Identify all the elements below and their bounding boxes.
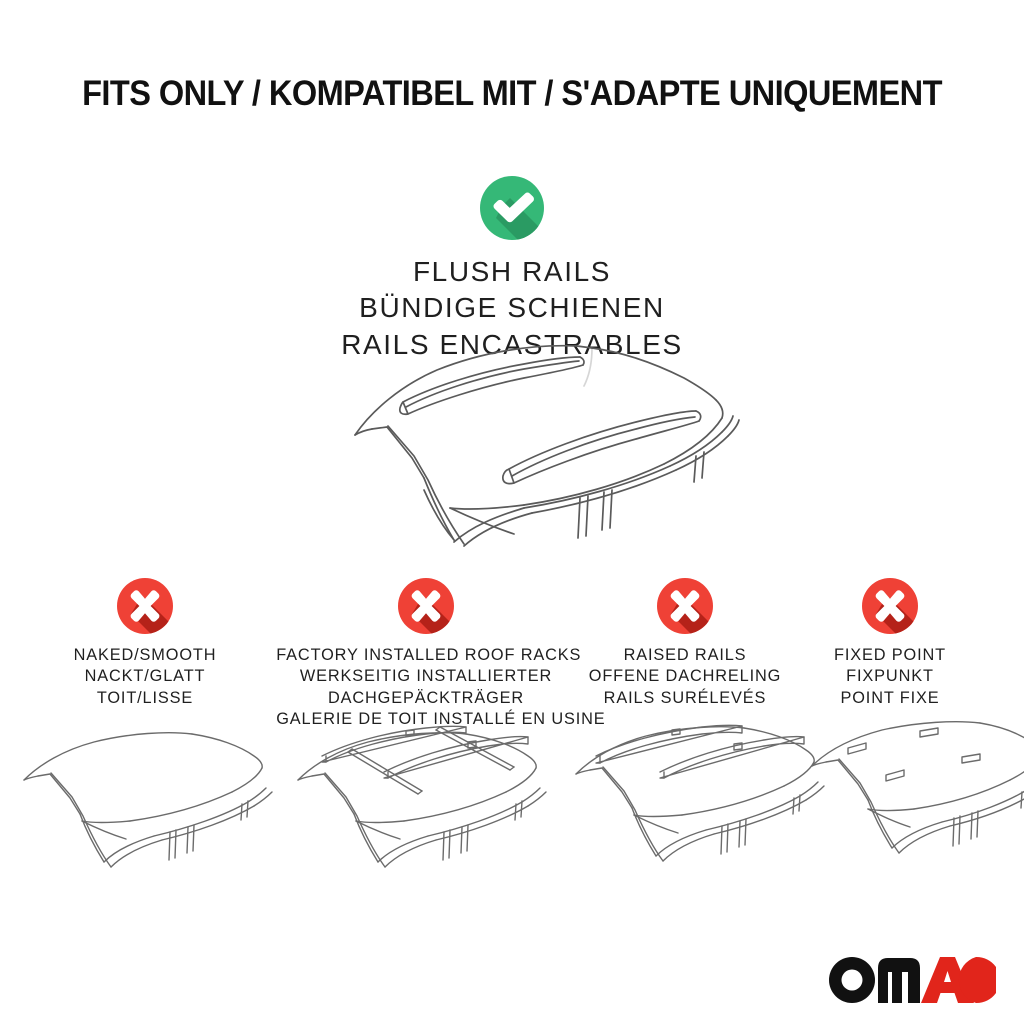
incompatible-label-de-2: DACHGEPÄCKTRÄGER bbox=[276, 687, 576, 708]
incompatible-label-de: NACKT/GLATT bbox=[39, 665, 250, 686]
incompatible-label-fr: TOIT/LISSE bbox=[39, 687, 250, 708]
car-roof-raised-rails-illustration bbox=[556, 712, 836, 908]
incompatible-label-en: FIXED POINT bbox=[794, 644, 986, 665]
car-roof-naked-smooth-illustration bbox=[6, 722, 274, 912]
check-circle-icon bbox=[480, 176, 544, 240]
page-title: FITS ONLY / KOMPATIBEL MIT / S'ADAPTE UN… bbox=[36, 74, 988, 114]
incompatible-label-de: OFFENE DACHRELING bbox=[584, 665, 786, 686]
incompatible-label-group: FIXED POINT FIXPUNKT POINT FIXE bbox=[790, 644, 990, 708]
incompatible-label-group: RAISED RAILS OFFENE DACHRELING RAILS SUR… bbox=[580, 644, 790, 708]
car-roof-factory-roof-racks-illustration bbox=[276, 712, 566, 908]
incompatible-label-fr: RAILS SURÉLEVÉS bbox=[584, 687, 786, 708]
x-circle-icon bbox=[862, 578, 918, 634]
x-circle-icon bbox=[398, 578, 454, 634]
x-circle-icon bbox=[117, 578, 173, 634]
logo-letter-m bbox=[878, 958, 920, 1003]
incompatible-label-fr: POINT FIXE bbox=[794, 687, 986, 708]
incompatible-section: NAKED/SMOOTH NACKT/GLATT TOIT/LISSE FACT… bbox=[0, 578, 1024, 728]
incompatible-label-de: FIXPUNKT bbox=[794, 665, 986, 686]
car-roof-flush-rails-illustration bbox=[292, 330, 744, 570]
omac-logo bbox=[826, 950, 996, 1010]
incompatible-label-en: NAKED/SMOOTH bbox=[39, 644, 250, 665]
incompatible-label-en: RAISED RAILS bbox=[584, 644, 786, 665]
incompatible-item-raised-rails: RAISED RAILS OFFENE DACHRELING RAILS SUR… bbox=[580, 578, 790, 708]
incompatible-item-factory-roof-racks: FACTORY INSTALLED ROOF RACKS WERKSEITIG … bbox=[270, 578, 582, 730]
incompatible-label-group: NAKED/SMOOTH NACKT/GLATT TOIT/LISSE bbox=[35, 644, 255, 708]
compatible-label-de: BÜNDIGE SCHIENEN bbox=[0, 290, 1024, 326]
logo-letter-o bbox=[829, 957, 875, 1003]
incompatible-label-en: FACTORY INSTALLED ROOF RACKS bbox=[276, 644, 576, 665]
car-roof-fixed-point-illustration bbox=[800, 712, 1024, 908]
compatible-label-en: FLUSH RAILS bbox=[0, 254, 1024, 290]
incompatible-item-fixed-point: FIXED POINT FIXPUNKT POINT FIXE bbox=[790, 578, 990, 708]
incompatible-item-naked-smooth: NAKED/SMOOTH NACKT/GLATT TOIT/LISSE bbox=[35, 578, 255, 708]
incompatible-label-de-1: WERKSEITIG INSTALLIERTER bbox=[276, 665, 576, 686]
x-circle-icon bbox=[657, 578, 713, 634]
